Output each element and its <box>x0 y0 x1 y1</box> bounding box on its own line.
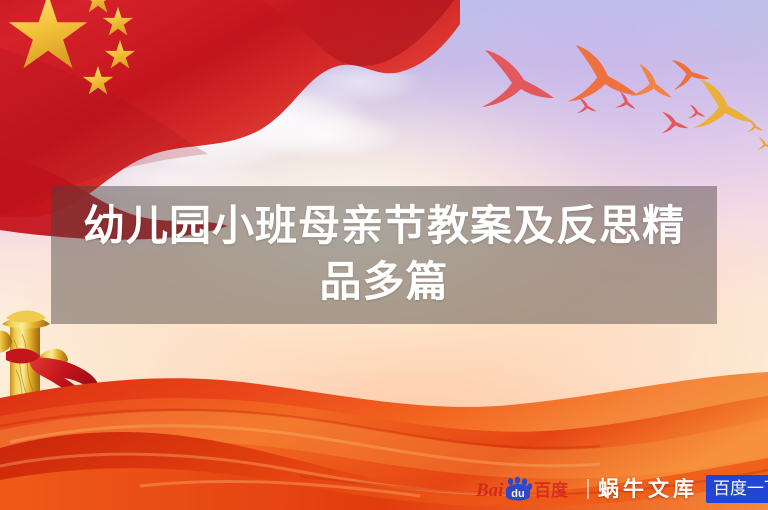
svg-text:Bai: Bai <box>475 480 504 501</box>
svg-text:du: du <box>511 488 524 500</box>
title-line-1: 幼儿园小班母亲节教案及反思精 <box>83 198 685 254</box>
image-canvas: 幼儿园小班母亲节教案及反思精 品多篇 Bai du 百度 <box>0 0 768 510</box>
baidu-search-button[interactable]: 百度一下 <box>706 475 768 503</box>
svg-text:百度: 百度 <box>534 480 569 500</box>
watermark-divider <box>587 479 589 499</box>
title-overlay-card: 幼儿园小班母亲节教案及反思精 品多篇 <box>51 186 717 324</box>
cloud <box>300 60 420 104</box>
watermark-brand: 蜗牛文库 <box>598 479 698 500</box>
title-line-2: 品多篇 <box>319 254 448 310</box>
watermark-bar: Bai du 百度 蜗牛文库 百度一下 <box>476 474 768 504</box>
baidu-logo[interactable]: Bai du 百度 <box>476 477 578 501</box>
